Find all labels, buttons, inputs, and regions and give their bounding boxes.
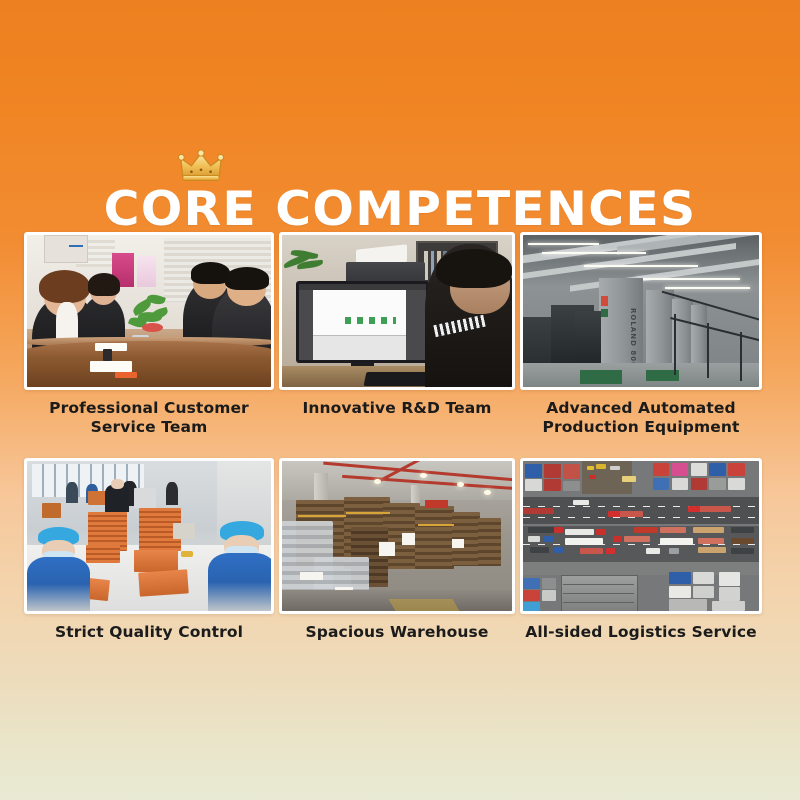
photo-printing-press: ROLAND 800 [523,235,759,387]
crown-icon [178,148,224,182]
worker-left [27,527,90,611]
card-caption: Advanced Automated Production Equipment [542,399,739,437]
photo-customer-service-meeting [27,235,271,387]
worker-background [105,479,129,512]
computer-monitor [296,281,429,363]
photo-logistics-aerial [523,461,759,611]
photo-warehouse [282,461,512,611]
card-caption: Innovative R&D Team [302,399,491,418]
competence-card-advanced-automated-production-equipment[interactable]: ROLAND 800 Advanced Automated Production… [520,232,762,449]
photo-rd-designer [282,235,512,387]
photo-frame [279,232,515,390]
competence-grid: Professional Customer Service Team [24,232,780,654]
competence-card-strict-quality-control[interactable]: Strict Quality Control [24,449,274,654]
photo-frame [520,458,762,614]
competence-card-spacious-warehouse[interactable]: Spacious Warehouse [279,449,515,654]
photo-frame: ROLAND 800 [520,232,762,390]
page-title: CORE COMPETENCES [104,181,697,239]
card-caption: Spacious Warehouse [306,623,489,642]
plant-decor [282,247,333,280]
competence-card-all-sided-logistics-service[interactable]: All-sided Logistics Service [520,449,762,654]
caption-line-1: Professional Customer [49,399,249,417]
core-competences-banner: CORE COMPETENCES [0,0,800,800]
competence-card-professional-customer-service-team[interactable]: Professional Customer Service Team [24,232,274,449]
caption-line-2: Production Equipment [542,418,739,436]
card-caption: Strict Quality Control [55,623,243,642]
card-caption: All-sided Logistics Service [525,623,757,642]
photo-frame [24,458,274,614]
worker-right [208,521,271,611]
photo-frame [279,458,515,614]
caption-line-1: Advanced Automated [546,399,735,417]
card-caption: Professional Customer Service Team [49,399,249,437]
photo-quality-control [27,461,271,611]
caption-line-2: Service Team [91,418,208,436]
machine-brand-label: ROLAND 800 [629,308,637,368]
design-software-screen [299,284,426,360]
photo-frame [24,232,274,390]
competence-card-innovative-rd-team[interactable]: Innovative R&D Team [279,232,515,449]
